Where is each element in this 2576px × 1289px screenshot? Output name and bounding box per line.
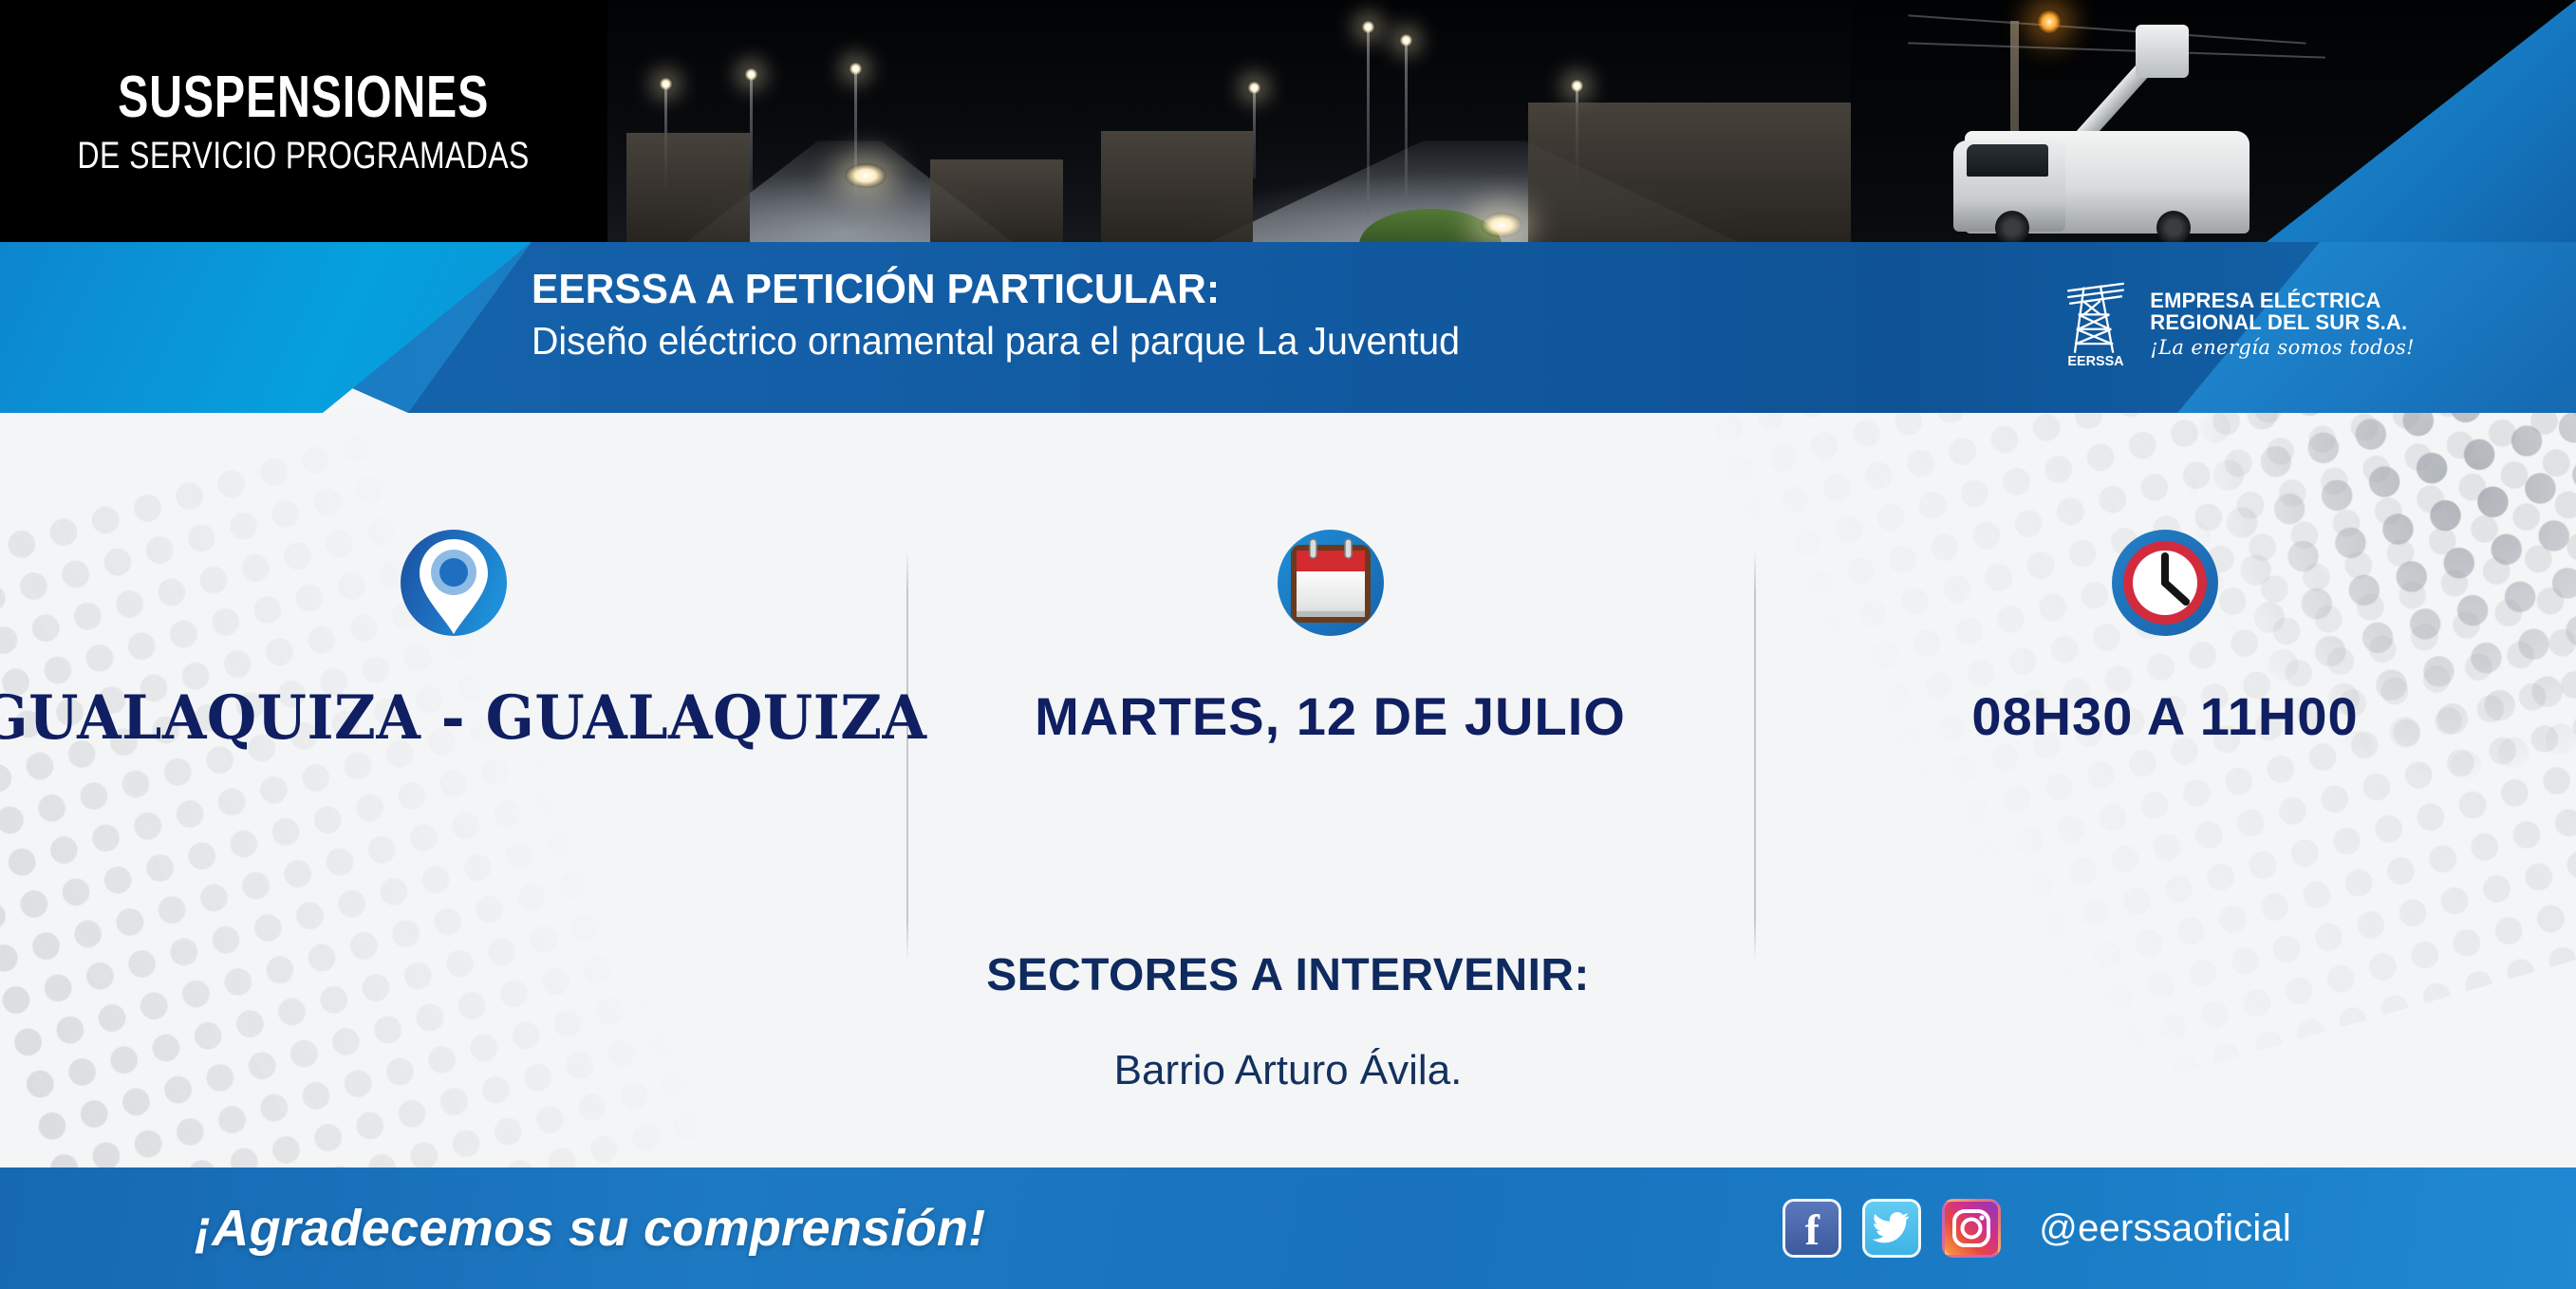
time-value: 08H30 A 11H00 [1971,685,2358,747]
info-columns: GUALAQUIZA - GUALAQUIZA [0,513,2576,826]
place-value: GUALAQUIZA - GUALAQUIZA [0,683,927,754]
social-handle: @eerssaoficial [2039,1207,2291,1250]
logo-line-2: REGIONAL DEL SUR S.A. [2150,311,2415,333]
clock-icon [2095,513,2235,653]
suspension-notice-poster: SUSPENSIONES DE SERVICIO PROGRAMADAS EER… [0,0,2576,1289]
twitter-bird-glyph [1873,1212,1911,1244]
facebook-icon[interactable]: f [1783,1199,1841,1258]
photo-bucket-truck [1851,0,2576,245]
banner-title: EERSSA A PETICIÓN PARTICULAR: [532,265,1460,313]
footer-bar: ¡Agradecemos su comprensión! f @eerssaof… [0,1168,2576,1289]
social-links: f @eerssaoficial [1783,1199,2291,1258]
location-pin-icon [383,513,524,653]
poster-title-line1: SUSPENSIONES [119,67,490,127]
poster-title-line2: DE SERVICIO PROGRAMADAS [78,135,530,177]
announcement-banner: EERSSA A PETICIÓN PARTICULAR: Diseño elé… [0,242,2576,413]
header-photo-strip: SUSPENSIONES DE SERVICIO PROGRAMADAS [0,0,2576,245]
transmission-tower-icon: EERSSA [2055,278,2137,369]
banner-text-block: EERSSA A PETICIÓN PARTICULAR: Diseño elé… [532,265,1499,364]
instagram-camera-glyph [1951,1208,1991,1248]
calendar-icon [1260,513,1401,653]
eerssa-logo: EERSSA EMPRESA ELÉCTRICA REGIONAL DEL SU… [2055,278,2415,369]
sectors-list: Barrio Arturo Ávila. [0,1047,2576,1094]
sectors-heading: SECTORES A INTERVENIR: [0,949,2576,1001]
instagram-icon[interactable] [1942,1199,2001,1258]
twitter-icon[interactable] [1862,1199,1921,1258]
facebook-glyph: f [1805,1208,1820,1252]
info-column-place: GUALAQUIZA - GUALAQUIZA [0,513,906,826]
logo-line-1: EMPRESA ELÉCTRICA [2150,290,2415,311]
sectors-section: SECTORES A INTERVENIR: Barrio Arturo Ávi… [0,949,2576,1094]
photo-night-street-2 [607,0,1082,245]
photo-night-street-3 [1082,0,1851,245]
info-column-date: MARTES, 12 DE JULIO [906,513,1754,826]
poster-title: SUSPENSIONES DE SERVICIO PROGRAMADAS [0,0,607,245]
thanks-message: ¡Agradecemos su comprensión! [195,1199,986,1258]
banner-subtitle: Diseño eléctrico ornamental para el parq… [532,317,1460,364]
logo-slogan: ¡La energía somos todos! [2150,337,2415,358]
info-column-time: 08H30 A 11H00 [1754,513,2576,826]
logo-mark-text: EERSSA [2068,354,2125,369]
date-value: MARTES, 12 DE JULIO [1035,685,1626,747]
